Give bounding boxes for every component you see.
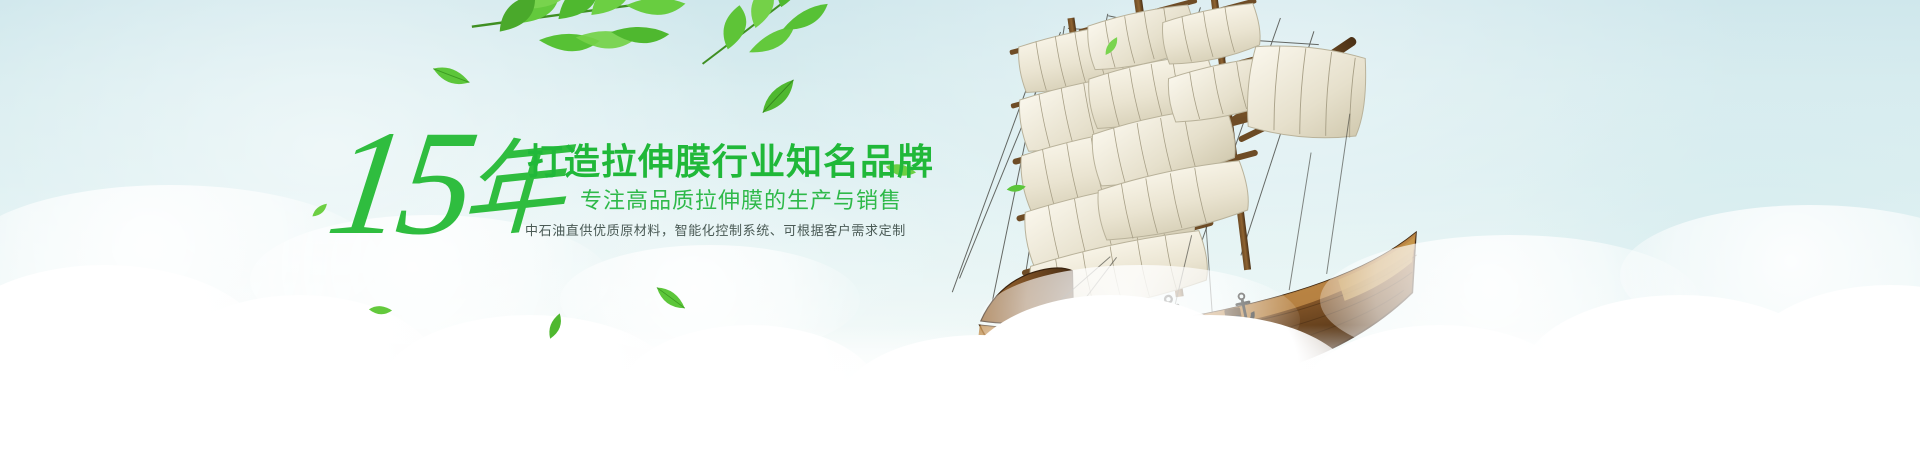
sky-glow-far-right [1500,0,1920,475]
caption-text: 中石油直供优质原材料，智能化控制系统、可根据客户需求定制 [525,224,906,237]
leaf-icon [428,55,472,98]
leaf-icon [457,0,703,115]
leaf-icon [652,279,687,319]
leaf-icon [366,300,393,322]
leaf-icon [680,0,846,81]
leaf-icon [541,311,571,342]
promo-copy-block: 15年 打造拉伸膜行业知名品牌 专注高品质拉伸膜的生产与销售 中石油直供优质原材… [330,112,910,262]
hero-banner: 15年 打造拉伸膜行业知名品牌 专注高品质拉伸膜的生产与销售 中石油直供优质原材… [0,0,1920,475]
years-unit: 年 [458,111,568,271]
sailing-ship-illustration [845,0,1425,390]
years-headline: 15年 [318,108,577,274]
headline-text: 打造拉伸膜行业知名品牌 [527,144,934,180]
years-number: 15 [319,100,480,266]
subheadline-text: 专注高品质拉伸膜的生产与销售 [580,190,902,212]
